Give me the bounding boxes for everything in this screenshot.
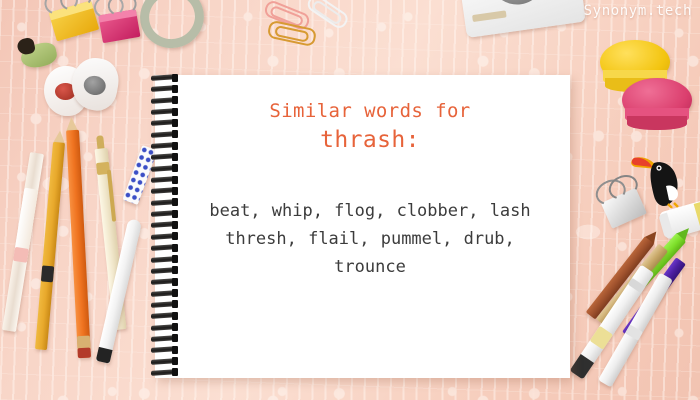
macaron-pink-icon [622, 78, 692, 136]
spiral-coil [151, 143, 177, 148]
spiral-coil [151, 222, 177, 227]
spiral-coil [151, 75, 177, 80]
synonym-list: beat, whip, flog, clobber, lash thresh, … [193, 197, 548, 281]
spiral-coil [151, 347, 177, 352]
spiral-coil [151, 120, 177, 125]
spiral-coil [151, 279, 177, 284]
spiral-coil [151, 325, 177, 330]
spiral-coil [151, 370, 177, 375]
spiral-coil [151, 132, 177, 137]
binder-clip-pink-icon [93, 0, 147, 48]
spiral-coil [151, 86, 177, 91]
spiral-coil [151, 234, 177, 239]
spiral-coil [151, 177, 177, 182]
eraser-stone-gray-icon [68, 54, 122, 113]
spiral-coil [151, 336, 177, 341]
spiral-coil [151, 166, 177, 171]
screenshot-scene: Similar words for thrash: beat, whip, fl… [0, 0, 700, 400]
watermark-synonym-tech: Synonym.tech [584, 3, 692, 19]
spiral-coil [151, 302, 177, 307]
heading-word: thrash: [320, 125, 420, 155]
spiral-coil [151, 98, 177, 103]
spiral-coil [151, 154, 177, 159]
spiral-coil [151, 211, 177, 216]
spiral-coil [151, 313, 177, 318]
spiral-coil [151, 359, 177, 364]
spiral-coil [151, 245, 177, 250]
notebook-text-block: Similar words for thrash: beat, whip, fl… [175, 75, 565, 378]
spiral-coil [151, 200, 177, 205]
spiral-coil [151, 291, 177, 296]
spiral-coil [151, 257, 177, 262]
heading-prefix: Similar words for [269, 97, 470, 125]
spiral-coil [151, 188, 177, 193]
spiral-coil [151, 109, 177, 114]
spiral-coil [151, 268, 177, 273]
